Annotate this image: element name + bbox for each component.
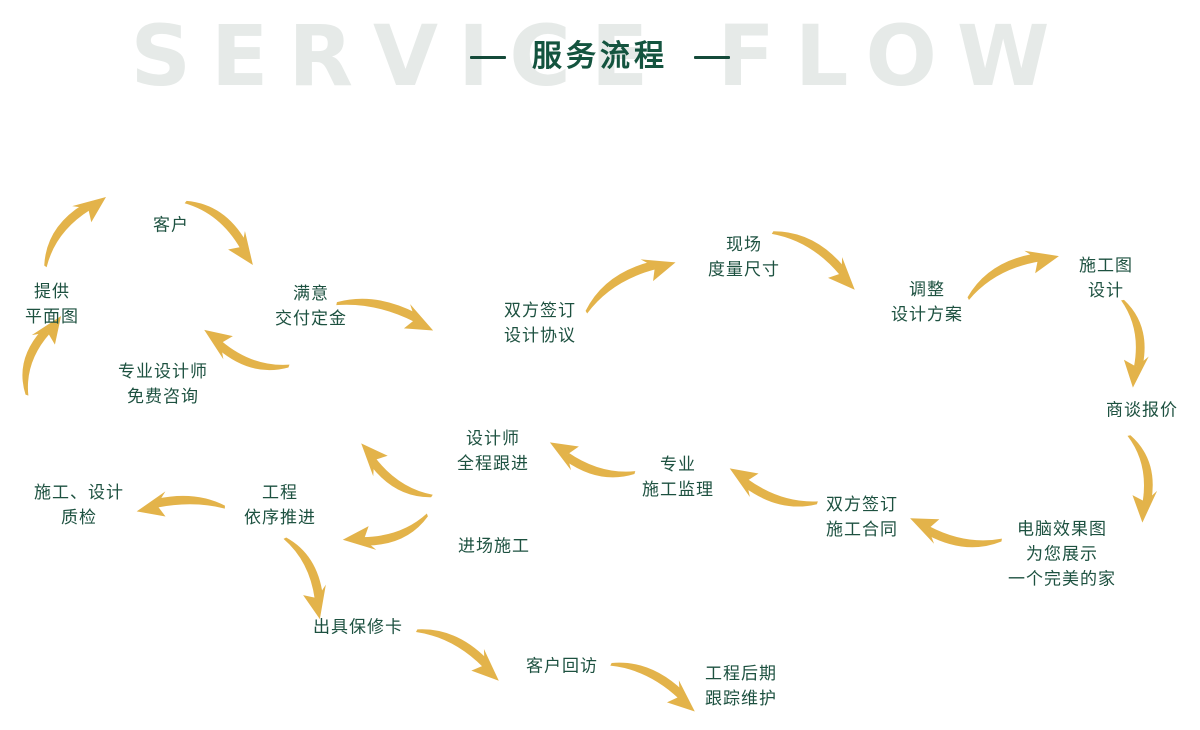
flow-node-baoxiu: 出具保修卡	[313, 616, 403, 641]
flow-arrow-shigongtu-to-shangtan	[1098, 293, 1168, 397]
flow-node-line: 设计方案	[891, 303, 963, 328]
flow-arrow-jianli-to-quancheng	[535, 424, 644, 501]
flow-node-quancheng: 设计师全程跟进	[457, 427, 529, 477]
flow-node-line: 双方签订	[826, 493, 898, 518]
service-flow-page: SERVICE FLOW 服务流程 客户提供平面图满意交付定金专业设计师免费咨询…	[0, 0, 1200, 725]
flow-node-qianding1: 双方签订设计协议	[504, 299, 576, 349]
flow-node-line: 工程后期	[705, 662, 777, 687]
flow-node-line: 交付定金	[275, 307, 347, 332]
flow-node-line: 施工、设计	[34, 481, 124, 506]
flow-node-houqi: 工程后期跟踪维护	[705, 662, 777, 712]
flow-node-gongcheng: 工程依序推进	[244, 481, 316, 531]
flow-arrow-huifang-to-houqi	[599, 638, 715, 730]
flow-node-line: 商谈报价	[1106, 399, 1178, 424]
flow-node-sheji-free: 专业设计师免费咨询	[118, 360, 208, 410]
flow-arrow-baoxiu-to-huifang	[404, 605, 520, 700]
flow-node-line: 质检	[34, 506, 124, 531]
flow-node-line: 设计师	[457, 427, 529, 452]
flow-node-line: 客户	[153, 214, 189, 239]
flow-arrow-qianding2-to-jianli	[713, 450, 826, 531]
flow-node-jianli: 专业施工监理	[642, 453, 714, 503]
flow-node-line: 电脑效果图	[1008, 518, 1116, 543]
flow-arrow-qianding1-to-xianchang	[569, 230, 691, 334]
flow-arrow-gongcheng-to-zhijian	[130, 478, 228, 527]
flow-node-line: 客户回访	[526, 655, 598, 680]
page-title: 服务流程	[532, 36, 668, 78]
flow-node-line: 施工合同	[826, 518, 898, 543]
flow-node-line: 依序推进	[244, 506, 316, 531]
header-dash-right-icon	[694, 56, 730, 59]
flow-node-tiaozheng: 调整设计方案	[891, 278, 963, 328]
flow-node-zhijian: 施工、设计质检	[34, 481, 124, 531]
header-dash-left-icon	[470, 56, 506, 59]
flow-arrow-jinchang-to-gongcheng	[331, 492, 439, 574]
flow-node-line: 现场	[708, 233, 780, 258]
flow-node-line: 提供	[25, 280, 79, 305]
flow-arrow-tiaozheng-to-shigongtu	[953, 223, 1074, 321]
flow-node-line: 工程	[244, 481, 316, 506]
flow-node-line: 一个完美的家	[1008, 568, 1116, 593]
flow-arrow-manyi-to-qianding1	[330, 276, 446, 347]
flow-node-xianchang: 现场度量尺寸	[708, 233, 780, 283]
flow-node-line: 平面图	[25, 305, 79, 330]
flow-node-tigong: 提供平面图	[25, 280, 79, 330]
flow-node-huifang: 客户回访	[526, 655, 598, 680]
flow-node-manyi: 满意交付定金	[275, 282, 347, 332]
flow-node-kehu: 客户	[153, 214, 189, 239]
flow-node-shigongtu: 施工图设计	[1079, 254, 1133, 304]
header-title-group: 服务流程	[0, 36, 1200, 78]
flow-node-line: 设计协议	[504, 324, 576, 349]
flow-node-shangtan: 商谈报价	[1106, 399, 1178, 424]
flow-arrow-diannao-to-qianding2	[898, 500, 1007, 569]
flow-node-qianding2: 双方签订施工合同	[826, 493, 898, 543]
flow-node-line: 出具保修卡	[313, 616, 403, 641]
flow-node-line: 双方签订	[504, 299, 576, 324]
flow-node-line: 跟踪维护	[705, 687, 777, 712]
flow-node-line: 专业	[642, 453, 714, 478]
flow-node-jinchang: 进场施工	[458, 535, 530, 560]
flow-node-line: 施工图	[1079, 254, 1133, 279]
flow-node-line: 免费咨询	[118, 385, 208, 410]
flow-arrow-tigong-to-kehu	[21, 171, 125, 283]
flow-node-line: 调整	[891, 278, 963, 303]
flow-node-line: 全程跟进	[457, 452, 529, 477]
flow-node-line: 施工监理	[642, 478, 714, 503]
flow-node-diannao: 电脑效果图为您展示一个完美的家	[1008, 518, 1116, 593]
flow-node-line: 为您展示	[1008, 543, 1116, 568]
flow-node-line: 进场施工	[458, 535, 530, 560]
flow-node-line: 专业设计师	[118, 360, 208, 385]
flow-node-line: 设计	[1079, 279, 1133, 304]
page-header: SERVICE FLOW 服务流程	[0, 0, 1200, 120]
flow-node-line: 满意	[275, 282, 347, 307]
flow-node-line: 度量尺寸	[708, 258, 780, 283]
